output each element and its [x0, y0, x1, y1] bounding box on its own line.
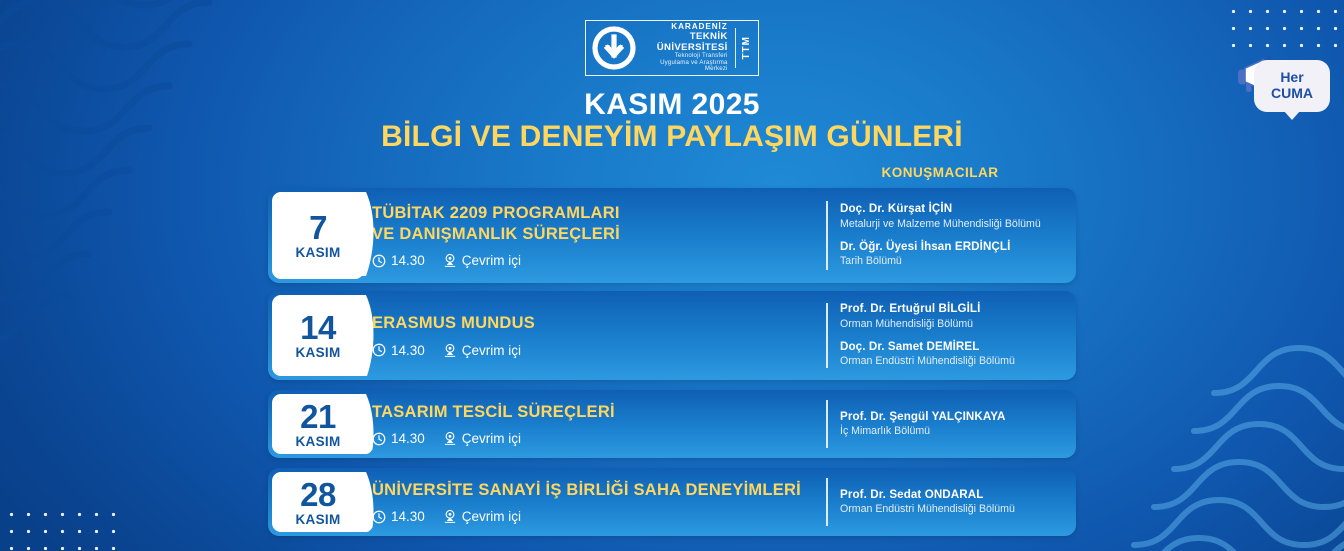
event-time: 14.30: [372, 509, 425, 524]
speaker-entry: Doç. Dr. Samet DEMİRELOrman Endüstri Müh…: [840, 340, 1068, 369]
speaker-department: Tarih Bölümü: [840, 255, 1068, 268]
clock-icon: [372, 254, 386, 268]
event-date-badge: 14KASIM: [272, 295, 364, 376]
event-location-text: Çevrim içi: [462, 253, 521, 268]
event-location: Çevrim içi: [443, 431, 521, 446]
speaker-name: Prof. Dr. Şengül YALÇINKAYA: [840, 410, 1068, 424]
event-title: ERASMUS MUNDUS: [372, 313, 816, 334]
speaker-entry: Prof. Dr. Şengül YALÇINKAYAİç Mimarlık B…: [840, 410, 1068, 439]
ktu-ttm-logo-mark: [590, 24, 638, 72]
event-day: 28: [300, 478, 336, 511]
her-cuma-line-1: Her: [1280, 70, 1303, 86]
event-time-text: 14.30: [391, 253, 425, 268]
event-meta: 14.30Çevrim içi: [372, 253, 816, 268]
event-month: KASIM: [296, 245, 341, 260]
dot-grid-bottom-left: [0, 503, 122, 551]
poster-canvas: KARADENİZ TEKNİK ÜNİVERSİTESİ Teknoloji …: [0, 0, 1344, 551]
clock-icon: [372, 343, 386, 357]
logo-line-2: TEKNİK ÜNİVERSİTESİ: [638, 32, 728, 53]
event-month: KASIM: [296, 434, 341, 449]
event-date-badge: 21KASIM: [272, 394, 364, 454]
event-time: 14.30: [372, 431, 425, 446]
speaker-name: Dr. Öğr. Üyesi İhsan ERDİNÇLİ: [840, 240, 1068, 254]
location-pin-icon: [443, 343, 457, 358]
speaker-department: Orman Endüstri Mühendisliği Bölümü: [840, 503, 1068, 516]
event-main: TASARIM TESCİL SÜREÇLERİ14.30Çevrim içi: [372, 390, 826, 458]
speaker-entry: Dr. Öğr. Üyesi İhsan ERDİNÇLİTarih Bölüm…: [840, 240, 1068, 269]
event-day: 14: [300, 311, 336, 344]
location-pin-icon: [443, 431, 457, 446]
clock-icon: [372, 432, 386, 446]
speaker-entry: Prof. Dr. Sedat ONDARALOrman Endüstri Mü…: [840, 488, 1068, 517]
logo-line-4: Uygulama ve Araştırma Merkezi: [638, 60, 728, 73]
speaker-name: Prof. Dr. Ertuğrul BİLGİLİ: [840, 302, 1068, 316]
event-main: ÜNİVERSİTE SANAYİ İŞ BİRLİĞİ SAHA DENEYİ…: [372, 468, 826, 536]
event-location: Çevrim içi: [443, 253, 521, 268]
event-meta: 14.30Çevrim içi: [372, 509, 816, 524]
event-title: ÜNİVERSİTE SANAYİ İŞ BİRLİĞİ SAHA DENEYİ…: [372, 480, 816, 501]
speaker-department: Orman Mühendisliği Bölümü: [840, 318, 1068, 331]
event-date-badge: 7KASIM: [272, 192, 364, 279]
event-meta: 14.30Çevrim içi: [372, 431, 816, 446]
event-time: 14.30: [372, 253, 425, 268]
speaker-name: Prof. Dr. Sedat ONDARAL: [840, 488, 1068, 502]
event-day: 21: [300, 400, 336, 433]
event-title-line-1: TÜBİTAK 2209 PROGRAMLARI: [372, 204, 620, 222]
event-title-line-1: ÜNİVERSİTE SANAYİ İŞ BİRLİĞİ SAHA DENEYİ…: [372, 481, 801, 499]
event-row[interactable]: 7KASIMTÜBİTAK 2209 PROGRAMLARIVE DANIŞMA…: [268, 188, 1076, 283]
event-speakers: Prof. Dr. Sedat ONDARALOrman Endüstri Mü…: [826, 468, 1076, 536]
event-title: TASARIM TESCİL SÜREÇLERİ: [372, 402, 816, 423]
logo-divider: [735, 28, 736, 68]
location-pin-icon: [443, 509, 457, 524]
event-month: KASIM: [296, 345, 341, 360]
event-title-line-1: ERASMUS MUNDUS: [372, 314, 535, 332]
her-cuma-line-2: CUMA: [1271, 86, 1313, 102]
speaker-name: Doç. Dr. Samet DEMİREL: [840, 340, 1068, 354]
event-title: TÜBİTAK 2209 PROGRAMLARIVE DANIŞMANLIK S…: [372, 203, 816, 245]
event-row[interactable]: 21KASIMTASARIM TESCİL SÜREÇLERİ14.30Çevr…: [268, 390, 1076, 458]
clock-icon: [372, 510, 386, 524]
event-speakers: Prof. Dr. Ertuğrul BİLGİLİOrman Mühendis…: [826, 291, 1076, 380]
dot-grid-top-right: [1222, 0, 1344, 56]
her-cuma-bubble: Her CUMA: [1254, 60, 1330, 112]
event-speakers: Prof. Dr. Şengül YALÇINKAYAİç Mimarlık B…: [826, 390, 1076, 458]
event-location-text: Çevrim içi: [462, 343, 521, 358]
location-pin-icon: [443, 253, 457, 268]
page-subtitle-month: KASIM 2025: [0, 88, 1344, 122]
ktu-ttm-logo: KARADENİZ TEKNİK ÜNİVERSİTESİ Teknoloji …: [585, 20, 759, 76]
page-title: BİLGİ VE DENEYİM PAYLAŞIM GÜNLERİ: [0, 120, 1344, 154]
speaker-department: Metalurji ve Malzeme Mühendisliği Bölümü: [840, 218, 1068, 231]
event-title-line-2: VE DANIŞMANLIK SÜREÇLERİ: [372, 225, 620, 243]
speaker-name: Doç. Dr. Kürşat İÇİN: [840, 202, 1068, 216]
event-date-badge: 28KASIM: [272, 472, 364, 532]
event-location-text: Çevrim içi: [462, 509, 521, 524]
event-meta: 14.30Çevrim içi: [372, 343, 816, 358]
event-time: 14.30: [372, 343, 425, 358]
event-main: TÜBİTAK 2209 PROGRAMLARIVE DANIŞMANLIK S…: [372, 188, 826, 283]
her-cuma-badge: Her CUMA: [1232, 56, 1332, 122]
speaker-entry: Doç. Dr. Kürşat İÇİNMetalurji ve Malzeme…: [840, 202, 1068, 231]
event-row[interactable]: 28KASIMÜNİVERSİTE SANAYİ İŞ BİRLİĞİ SAHA…: [268, 468, 1076, 536]
speaker-department: İç Mimarlık Bölümü: [840, 425, 1068, 438]
event-time-text: 14.30: [391, 431, 425, 446]
event-day: 7: [309, 211, 327, 244]
event-row[interactable]: 14KASIMERASMUS MUNDUS14.30Çevrim içiProf…: [268, 291, 1076, 380]
event-main: ERASMUS MUNDUS14.30Çevrim içi: [372, 291, 826, 380]
event-location-text: Çevrim içi: [462, 431, 521, 446]
event-location: Çevrim içi: [443, 343, 521, 358]
event-month: KASIM: [296, 512, 341, 527]
event-title-line-1: TASARIM TESCİL SÜREÇLERİ: [372, 403, 615, 421]
event-time-text: 14.30: [391, 343, 425, 358]
event-location: Çevrim içi: [443, 509, 521, 524]
speaker-department: Orman Endüstri Mühendisliği Bölümü: [840, 355, 1068, 368]
event-time-text: 14.30: [391, 509, 425, 524]
speaker-entry: Prof. Dr. Ertuğrul BİLGİLİOrman Mühendis…: [840, 302, 1068, 331]
speakers-column-heading: KONUŞMACILAR: [858, 165, 1022, 180]
event-speakers: Doç. Dr. Kürşat İÇİNMetalurji ve Malzeme…: [826, 188, 1076, 283]
logo-ttm-text: TTM: [741, 36, 752, 60]
